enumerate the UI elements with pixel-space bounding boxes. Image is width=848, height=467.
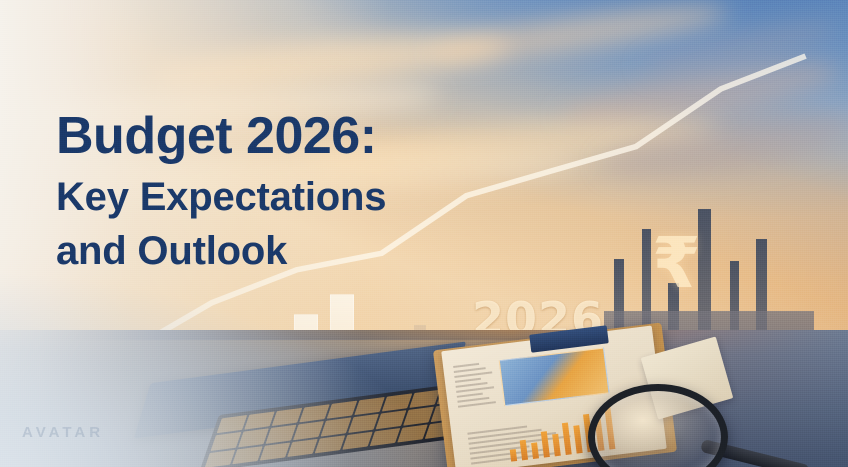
budget-banner: ₹ 2026 Budget 2026: Key Expectations and… [0, 0, 848, 467]
watermark-text: AVATAR [22, 424, 104, 441]
subtitle-line-2: and Outlook [56, 230, 476, 272]
subtitle-line-1: Key Expectations [56, 176, 476, 218]
page-title: Budget 2026: [56, 110, 476, 162]
headline-block: Budget 2026: Key Expectations and Outloo… [56, 110, 476, 284]
